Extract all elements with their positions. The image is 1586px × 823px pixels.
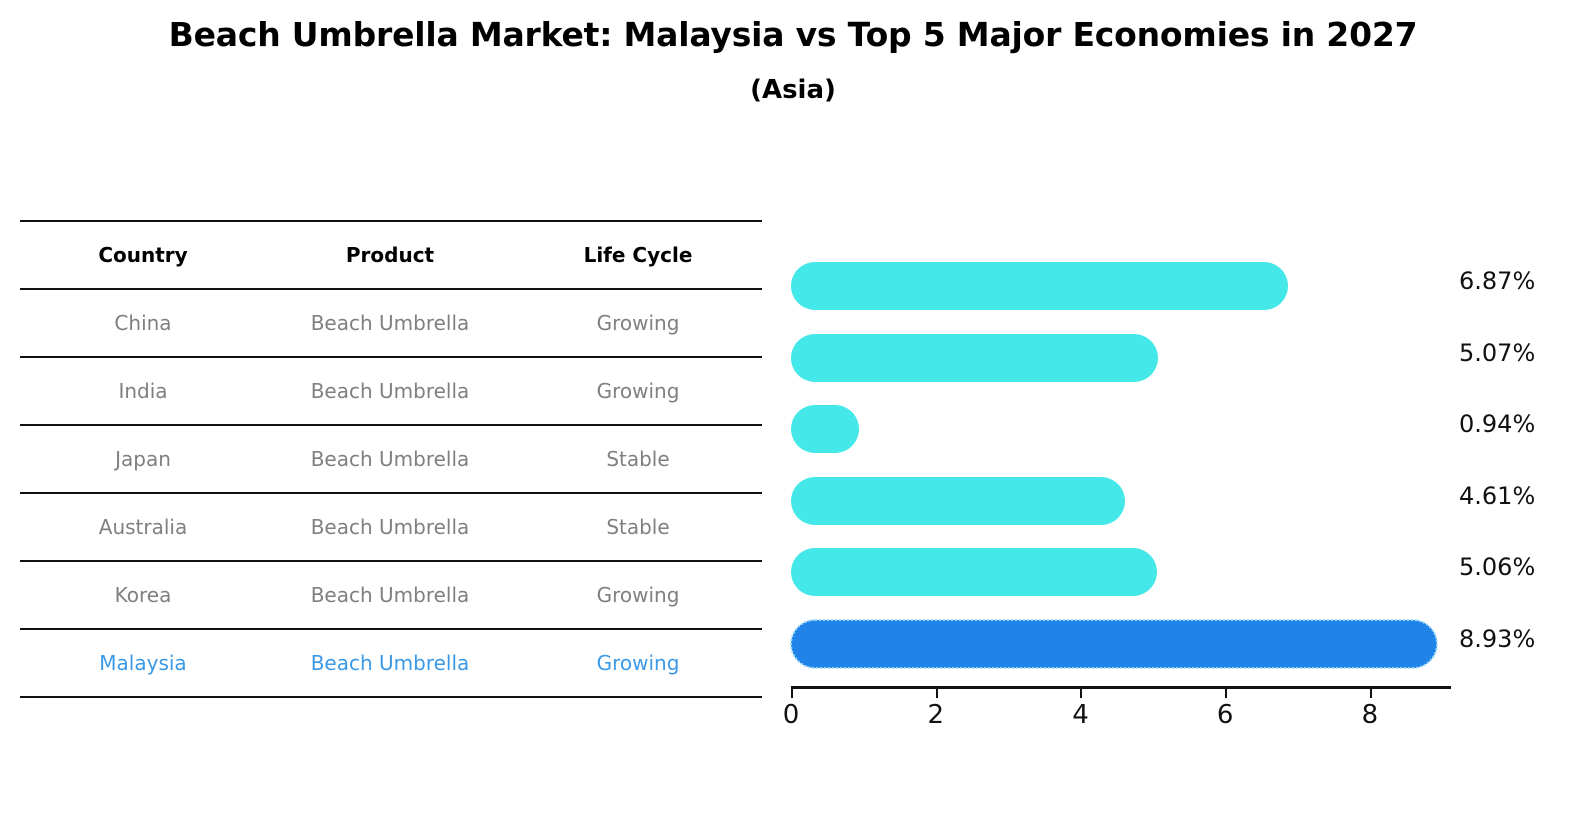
bar-row: 5.07% [791, 325, 1451, 391]
x-tick [936, 689, 938, 698]
bar-value-label: 4.61% [1459, 482, 1535, 510]
bar-row: 4.61% [791, 468, 1451, 534]
x-tick-label: 0 [771, 700, 811, 730]
cell-life-cycle: Growing [514, 357, 762, 425]
bar-value-label: 0.94% [1459, 410, 1535, 438]
x-tick-label: 8 [1350, 700, 1390, 730]
bar-value-label: 5.07% [1459, 339, 1535, 367]
cell-country: Australia [20, 493, 266, 561]
cell-product: Beach Umbrella [266, 561, 514, 629]
bar-value-label: 5.06% [1459, 553, 1535, 581]
bar-value-label: 8.93% [1459, 625, 1535, 653]
table-row: KoreaBeach UmbrellaGrowing [20, 561, 762, 629]
x-tick-label: 6 [1205, 700, 1245, 730]
bar-row: 5.06% [791, 539, 1451, 605]
x-tick [1225, 689, 1227, 698]
bar-china [791, 262, 1288, 310]
cell-country: Malaysia [20, 629, 266, 697]
table-body: ChinaBeach UmbrellaGrowingIndiaBeach Umb… [20, 289, 762, 697]
page-subtitle: (Asia) [0, 70, 1586, 110]
x-tick-label: 4 [1060, 700, 1100, 730]
bar-japan [791, 405, 859, 453]
x-tick [1080, 689, 1082, 698]
table-row: MalaysiaBeach UmbrellaGrowing [20, 629, 762, 697]
table-header-row: Country Product Life Cycle [20, 221, 762, 289]
cell-life-cycle: Growing [514, 561, 762, 629]
cell-country: India [20, 357, 266, 425]
cell-life-cycle: Stable [514, 425, 762, 493]
bar-row: 8.93% [791, 611, 1451, 677]
cell-life-cycle: Growing [514, 629, 762, 697]
cell-life-cycle: Stable [514, 493, 762, 561]
bar-row: 0.94% [791, 396, 1451, 462]
cell-product: Beach Umbrella [266, 629, 514, 697]
table-row: IndiaBeach UmbrellaGrowing [20, 357, 762, 425]
cell-country: Korea [20, 561, 266, 629]
chart-page: Beach Umbrella Market: Malaysia vs Top 5… [0, 0, 1586, 823]
bar-australia [791, 477, 1125, 525]
table-row: ChinaBeach UmbrellaGrowing [20, 289, 762, 357]
page-title: Beach Umbrella Market: Malaysia vs Top 5… [0, 12, 1586, 58]
cell-product: Beach Umbrella [266, 493, 514, 561]
x-tick [1370, 689, 1372, 698]
bar-malaysia [791, 620, 1437, 668]
column-header-product: Product [266, 221, 514, 289]
column-header-country: Country [20, 221, 266, 289]
cell-country: China [20, 289, 266, 357]
column-header-life-cycle: Life Cycle [514, 221, 762, 289]
bar-value-label: 6.87% [1459, 267, 1535, 295]
bar-korea [791, 548, 1157, 596]
table-row: JapanBeach UmbrellaStable [20, 425, 762, 493]
title-block: Beach Umbrella Market: Malaysia vs Top 5… [0, 12, 1586, 110]
country-table: Country Product Life Cycle ChinaBeach Um… [20, 220, 762, 698]
x-axis-line [791, 686, 1451, 689]
bar-row: 6.87% [791, 253, 1451, 319]
x-tick [791, 689, 793, 698]
cell-product: Beach Umbrella [266, 289, 514, 357]
cell-life-cycle: Growing [514, 289, 762, 357]
table-row: AustraliaBeach UmbrellaStable [20, 493, 762, 561]
x-tick-label: 2 [916, 700, 956, 730]
cell-country: Japan [20, 425, 266, 493]
plot-area: 6.87%5.07%0.94%4.61%5.06%8.93% [791, 253, 1451, 682]
cell-product: Beach Umbrella [266, 357, 514, 425]
cell-product: Beach Umbrella [266, 425, 514, 493]
bar-india [791, 334, 1158, 382]
